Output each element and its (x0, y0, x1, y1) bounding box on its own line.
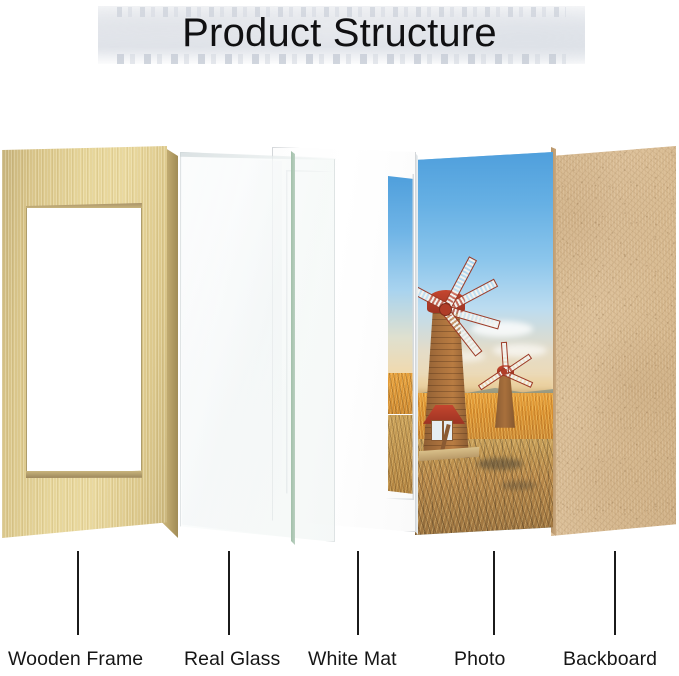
layer-wooden-frame (2, 146, 178, 538)
leader-line-real-glass (228, 551, 230, 635)
label-wooden-frame: Wooden Frame (8, 648, 143, 671)
label-backboard: Backboard (563, 648, 657, 671)
label-real-glass: Real Glass (184, 648, 280, 671)
label-photo: Photo (454, 648, 505, 671)
layer-photo (415, 152, 553, 535)
backboard-texture (551, 146, 676, 536)
leader-line-wooden-frame (77, 551, 79, 635)
frame-rabbet-bottom (26, 471, 142, 478)
photo-windmill-window (431, 420, 453, 441)
layer-backboard (551, 146, 676, 536)
glass-reflection (182, 156, 282, 536)
photo-windmill2-hub (501, 369, 507, 375)
label-white-mat: White Mat (308, 648, 397, 671)
product-structure-diagram: Product Structure (0, 0, 679, 676)
leader-line-white-mat (357, 551, 359, 635)
glass-side-edge-core (291, 151, 295, 545)
layer-labels: Wooden Frame Real Glass White Mat Photo … (0, 648, 679, 676)
frame-opening (26, 204, 142, 476)
leader-line-backboard (614, 551, 616, 635)
leader-line-photo (493, 551, 495, 635)
exploded-layer-stack (0, 0, 679, 676)
